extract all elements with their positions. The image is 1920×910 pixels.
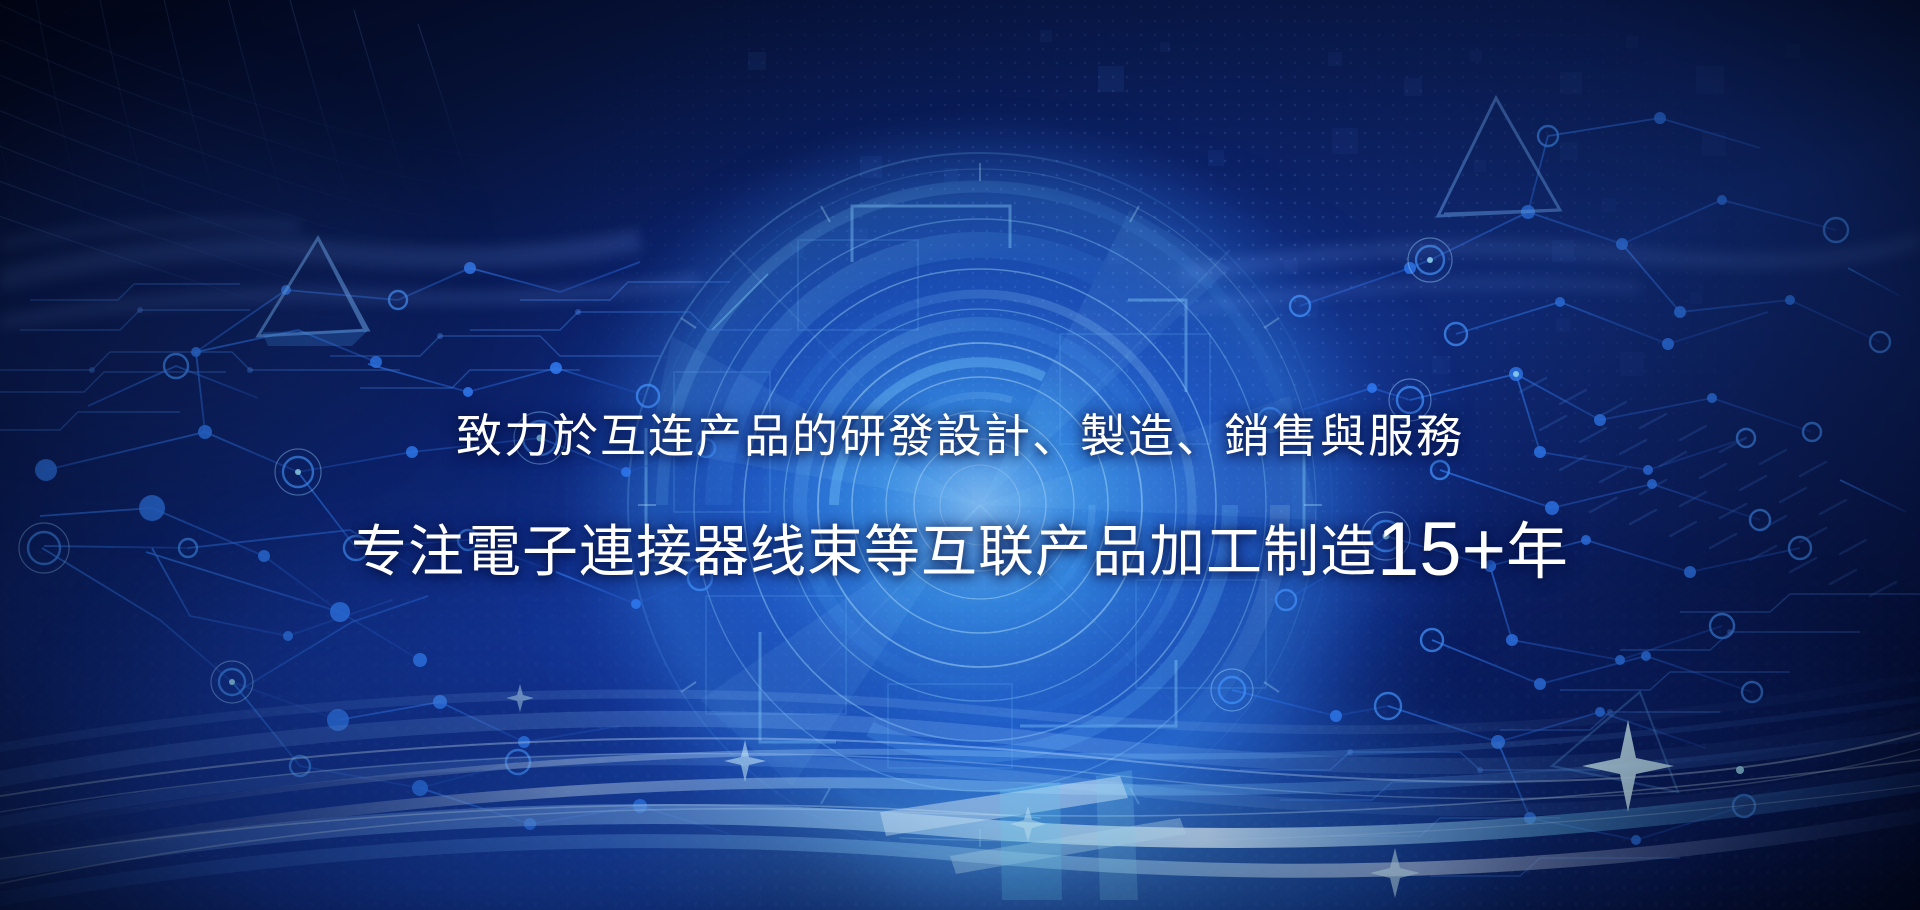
hero-banner: 致力於互连产品的研發設計、製造、銷售與服務 专注電子連接器线束等互联产品加工制造…	[0, 0, 1920, 910]
years-figure: 15+	[1377, 507, 1506, 592]
years-unit: 年	[1506, 518, 1569, 587]
headline-line-2: 专注電子連接器线束等互联产品加工制造15+年	[0, 504, 1920, 595]
hero-headline: 致力於互连产品的研發設計、製造、銷售與服務 专注電子連接器线束等互联产品加工制造…	[0, 408, 1920, 595]
headline-line-2-prefix: 专注電子連接器线束等互联产品加工制造	[351, 520, 1377, 583]
headline-line-1: 致力於互连产品的研發設計、製造、銷售與服務	[0, 408, 1920, 466]
